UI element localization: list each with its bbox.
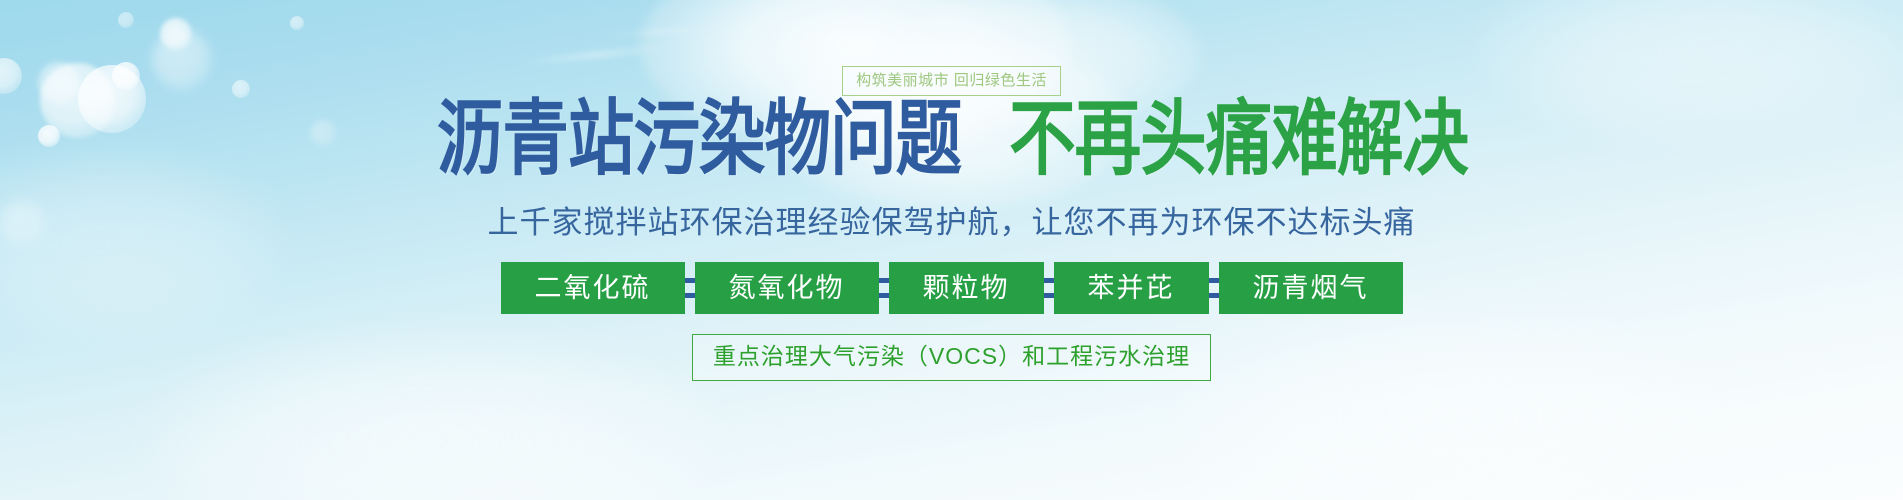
tag-separator-icon [685,262,695,314]
hero-banner: 构筑美丽城市 回归绿色生活 沥青站污染物问题 不再头痛难解决 上千家搅拌站环保治… [0,0,1903,500]
headline-primary: 沥青站污染物问题 [437,97,961,180]
tag-item[interactable]: 氮氧化物 [695,262,879,314]
tag-separator-icon [879,262,889,314]
banner-content: 构筑美丽城市 回归绿色生活 沥青站污染物问题 不再头痛难解决 上千家搅拌站环保治… [0,0,1903,500]
tag-separator-icon [1044,262,1054,314]
headline-highlight: 不再头痛难解决 [1009,97,1468,180]
tag-item[interactable]: 颗粒物 [889,262,1044,314]
subheadline: 上千家搅拌站环保治理经验保驾护航，让您不再为环保不达标头痛 [488,206,1416,240]
tag-item[interactable]: 沥青烟气 [1219,262,1403,314]
page-title: 沥青站污染物问题 不再头痛难解决 [423,110,1480,180]
footnote-box: 重点治理大气污染（VOCS）和工程污水治理 [692,334,1211,381]
tag-item[interactable]: 苯并芘 [1054,262,1209,314]
tag-item[interactable]: 二氧化硫 [501,262,685,314]
pollutant-tag-bar: 二氧化硫 氮氧化物 颗粒物 苯并芘 沥青烟气 [501,262,1403,314]
tag-separator-icon [1209,262,1219,314]
